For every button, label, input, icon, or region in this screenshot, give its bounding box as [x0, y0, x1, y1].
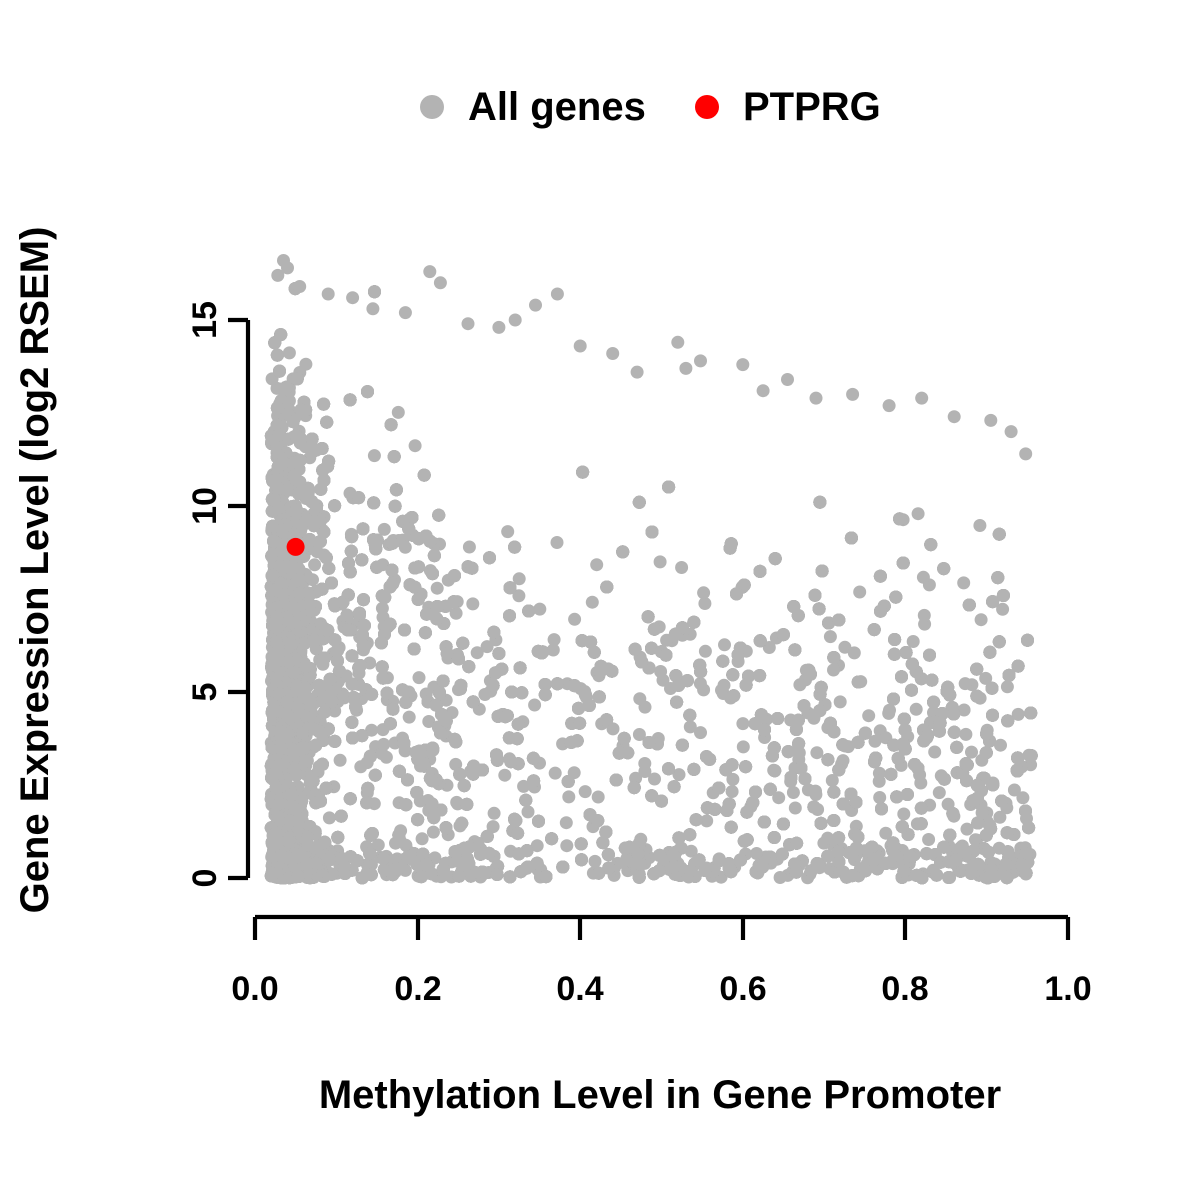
- x-tick-label-1.0: 1.0: [1044, 970, 1091, 1008]
- y-tick-label-15: 15: [186, 301, 224, 339]
- scatter-plot-figure: 15 10 5 0 0.0 0.2 0.4 0.6 0.8 1.0 Methyl…: [0, 0, 1200, 1200]
- ptprg-point: [287, 538, 305, 556]
- x-tick-label-0.8: 0.8: [881, 970, 928, 1008]
- y-axis-title: Gene Expression Level (log2 RSEM): [13, 227, 57, 914]
- ptprg-marker: [287, 538, 305, 556]
- x-axis-title: Methylation Level in Gene Promoter: [319, 1073, 1001, 1117]
- x-tick-label-0.2: 0.2: [394, 970, 441, 1008]
- legend-label-all-genes: All genes: [468, 85, 646, 129]
- y-tick-label-5: 5: [186, 683, 224, 702]
- y-tick-label-10: 10: [186, 487, 224, 525]
- x-tick-label-0.0: 0.0: [231, 970, 278, 1008]
- x-tick-label-0.6: 0.6: [719, 970, 766, 1008]
- plot-canvas: 15 10 5 0 0.0 0.2 0.4 0.6 0.8 1.0 Methyl…: [0, 0, 1200, 1200]
- y-tick-label-0: 0: [186, 869, 224, 888]
- legend-label-ptprg: PTPRG: [743, 85, 881, 129]
- legend-marker-all-genes: [420, 95, 444, 119]
- figure-background: [0, 0, 1200, 1200]
- legend-marker-ptprg: [695, 95, 719, 119]
- x-tick-label-0.4: 0.4: [556, 970, 603, 1008]
